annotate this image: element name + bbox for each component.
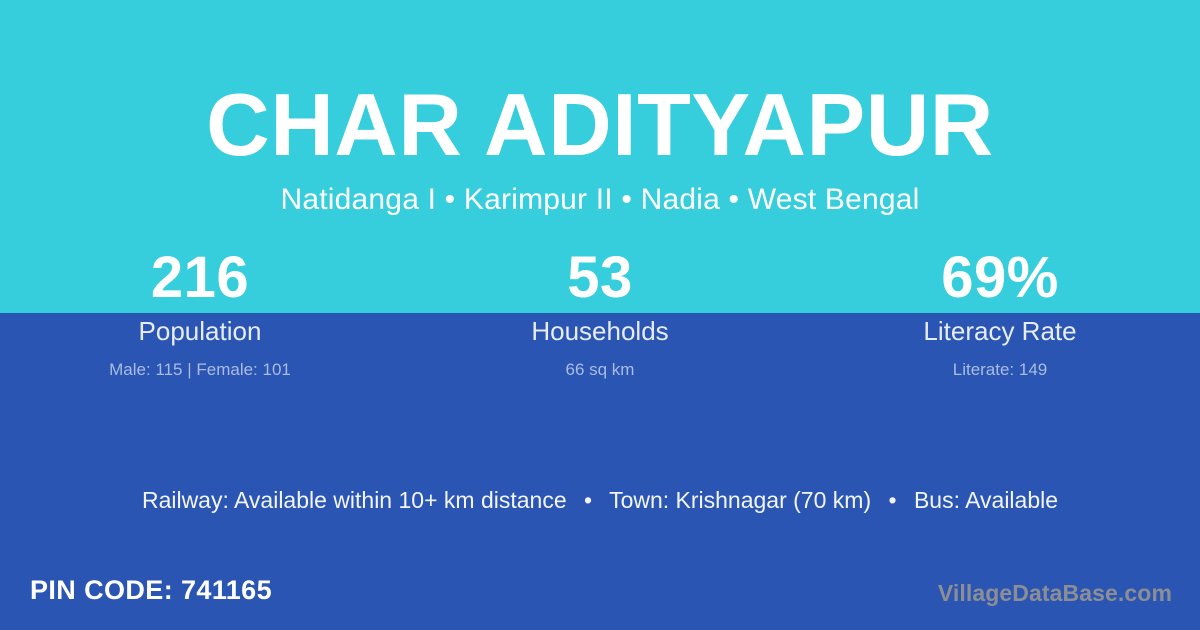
village-info-card: CHAR ADITYAPUR Natidanga I • Karimpur II…: [0, 0, 1200, 630]
breadcrumb: Natidanga I • Karimpur II • Nadia • West…: [0, 182, 1200, 218]
stat-literacy-rate: 69% Literacy Rate Literate: 149: [800, 243, 1200, 382]
stat-label-households: Households: [400, 315, 800, 347]
bullet-separator-icon: •: [878, 485, 908, 515]
stat-value-literacy-rate: 69%: [800, 243, 1200, 313]
stat-label-population: Population: [0, 315, 400, 347]
stat-value-households: 53: [400, 243, 800, 313]
stat-sub-households: 66 sq km: [400, 358, 800, 382]
infrastructure-line: Railway: Available within 10+ km distanc…: [0, 485, 1200, 515]
stat-population: 216 Population Male: 115 | Female: 101: [0, 243, 400, 382]
brand-watermark: VillageDataBase.com: [938, 578, 1172, 608]
pin-code: PIN CODE: 741165: [30, 574, 272, 606]
stats-row: 216 Population Male: 115 | Female: 101 5…: [0, 243, 1200, 382]
infra-bus: Bus: Available: [914, 487, 1058, 513]
stat-sub-literacy-rate: Literate: 149: [800, 358, 1200, 382]
stat-label-literacy-rate: Literacy Rate: [800, 315, 1200, 347]
page-title: CHAR ADITYAPUR: [0, 79, 1200, 171]
infra-railway: Railway: Available within 10+ km distanc…: [142, 487, 567, 513]
infra-town: Town: Krishnagar (70 km): [609, 487, 871, 513]
bullet-separator-icon: •: [573, 485, 603, 515]
stat-value-population: 216: [0, 243, 400, 313]
stat-households: 53 Households 66 sq km: [400, 243, 800, 382]
stat-sub-population: Male: 115 | Female: 101: [0, 358, 400, 382]
